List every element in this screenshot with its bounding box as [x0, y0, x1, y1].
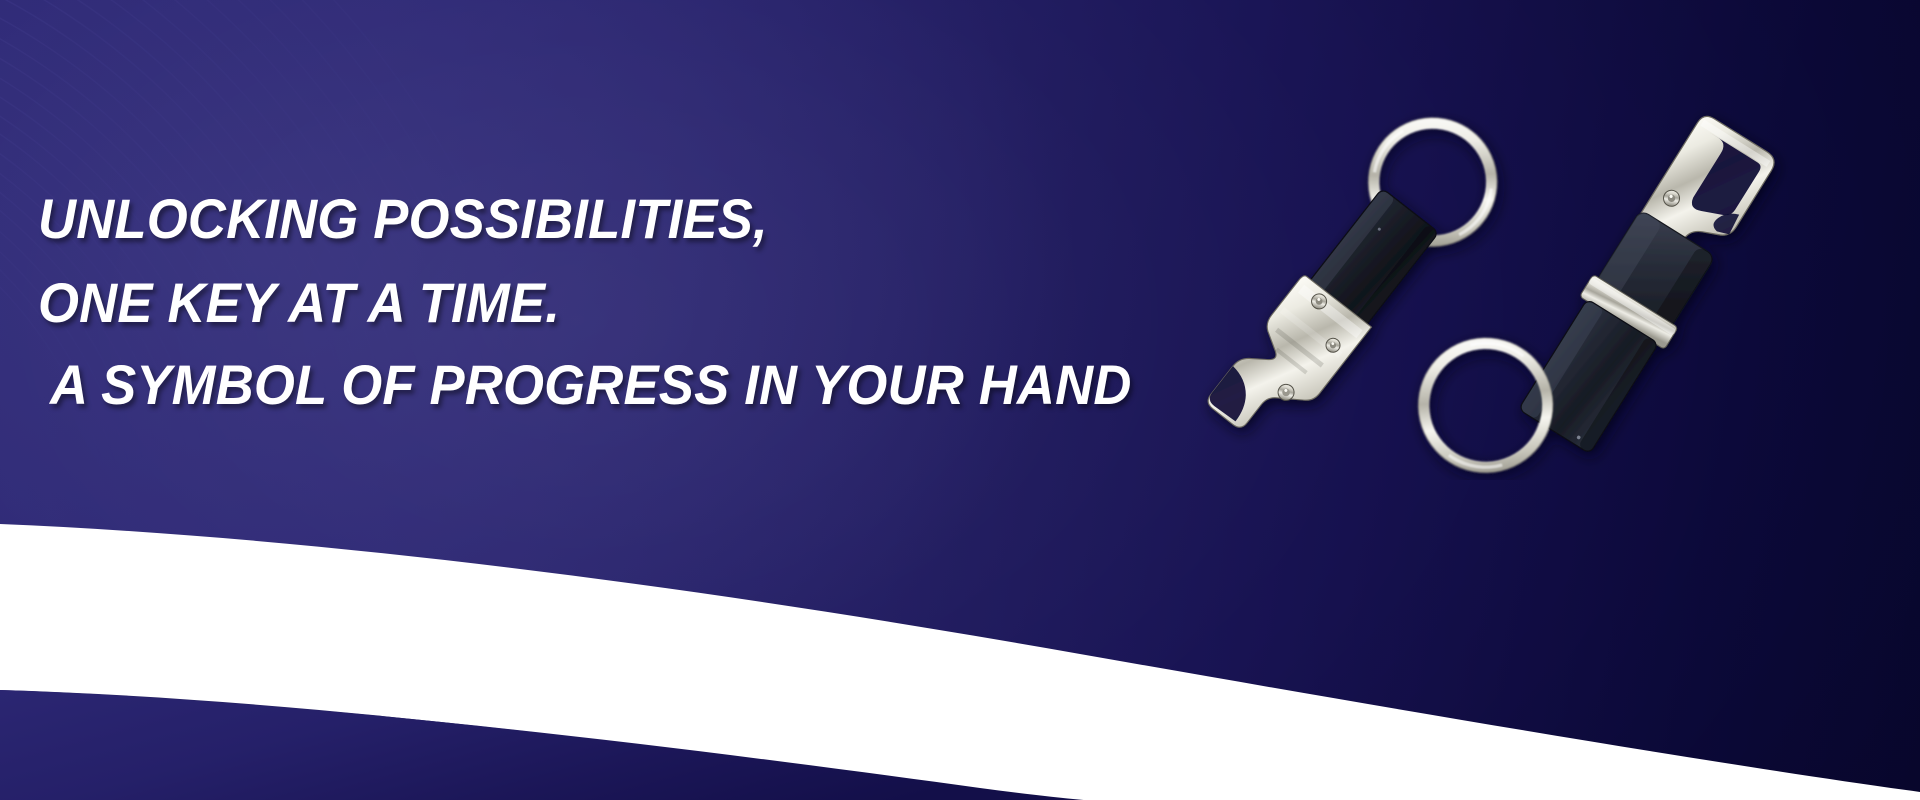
split-ring-right [1393, 313, 1578, 480]
hero-banner: UNLOCKING POSSIBILITIES, ONE KEY AT A TI… [0, 0, 1920, 800]
product-images [1060, 80, 1920, 480]
headline-line-1: UNLOCKING POSSIBILITIES, [38, 186, 768, 251]
headline-line-3: A SYMBOL OF PROGRESS IN YOUR HAND [50, 352, 1132, 417]
keychain-right [1393, 80, 1782, 480]
headline-line-2: ONE KEY AT A TIME. [38, 270, 560, 335]
keychain-left [1189, 92, 1523, 469]
